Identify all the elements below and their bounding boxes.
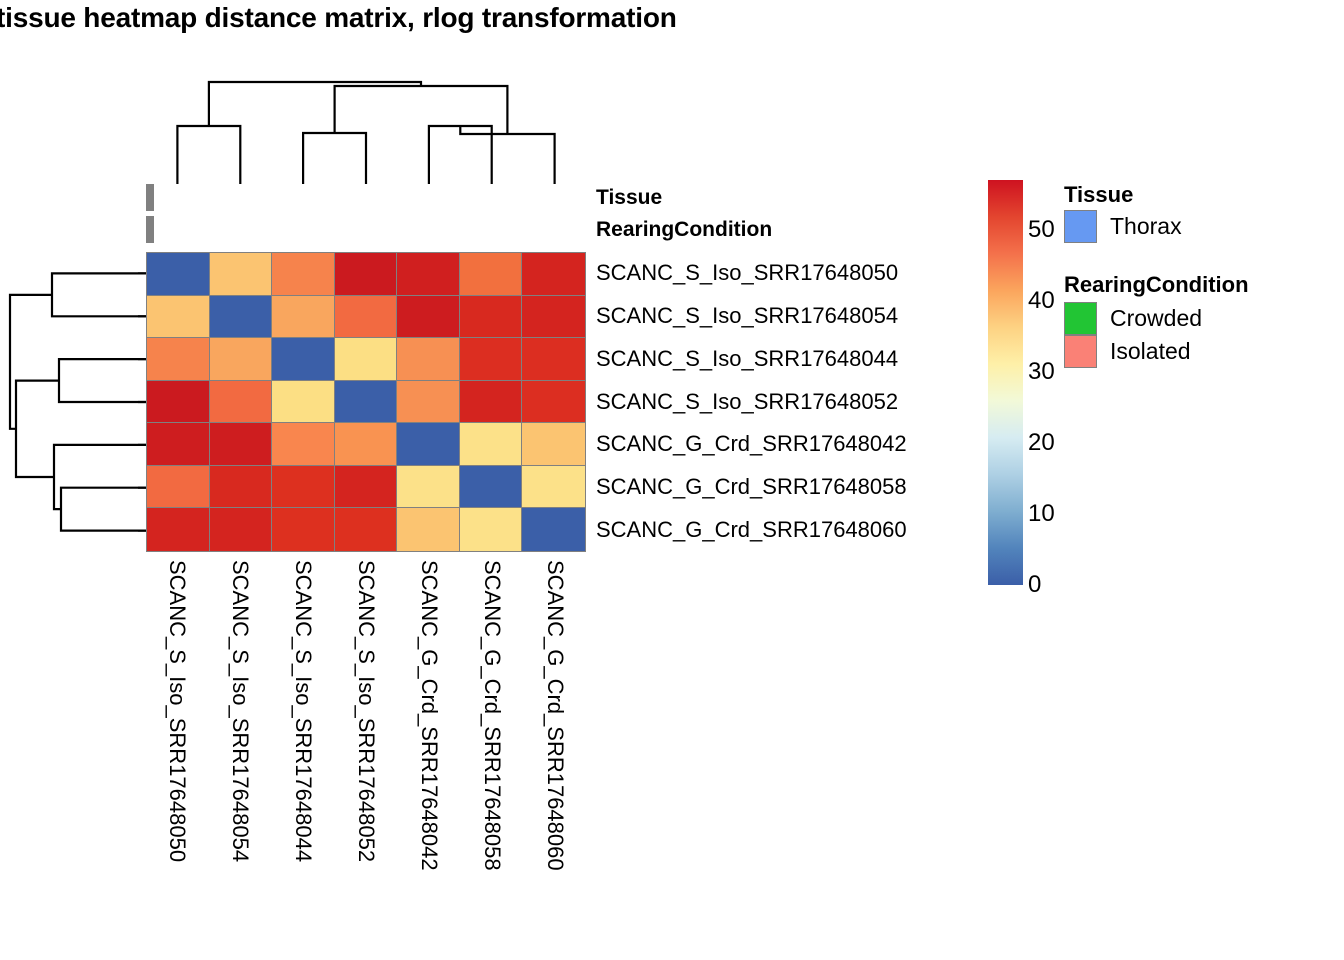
- column-label-slot: SCANC_S_Iso_SRR17648050: [146, 556, 209, 956]
- heatmap-figure: tissue heatmap distance matrix, rlog tra…: [0, 0, 1344, 960]
- heatmap-cell: [272, 296, 335, 339]
- heatmap-cell: [210, 466, 273, 509]
- legend-rearing-swatch: [1064, 335, 1097, 368]
- legend-tissue-item[interactable]: Thorax: [1064, 210, 1182, 243]
- annotation-label-tissue: Tissue: [596, 184, 662, 211]
- heatmap-cell: [147, 381, 210, 424]
- heatmap-cell: [460, 338, 523, 381]
- legend-rearing-label: Isolated: [1110, 338, 1191, 365]
- heatmap-cell: [397, 423, 460, 466]
- legend-title-tissue: Tissue: [1064, 182, 1133, 208]
- column-label: SCANC_S_Iso_SRR17648052: [353, 560, 379, 862]
- legend-rearing-label: Crowded: [1110, 305, 1202, 332]
- row-label: SCANC_S_Iso_SRR17648052: [596, 381, 898, 424]
- heatmap-cell: [147, 466, 210, 509]
- heatmap-cell: [335, 508, 398, 551]
- heatmap-cell: [272, 423, 335, 466]
- column-label-slot: SCANC_S_Iso_SRR17648044: [272, 556, 335, 956]
- column-dendrogram-ticks: [177, 176, 554, 184]
- heatmap-cell: [397, 253, 460, 296]
- column-label-group: SCANC_S_Iso_SRR17648050SCANC_S_Iso_SRR17…: [146, 556, 586, 956]
- row-label: SCANC_S_Iso_SRR17648044: [596, 338, 898, 381]
- heatmap-cell: [210, 338, 273, 381]
- heatmap-cell: [460, 381, 523, 424]
- colorbar-tick-label: 50: [1028, 218, 1055, 242]
- page-title: tissue heatmap distance matrix, rlog tra…: [0, 1, 996, 35]
- row-label-group: SCANC_S_Iso_SRR17648050SCANC_S_Iso_SRR17…: [596, 252, 996, 552]
- heatmap-cell: [397, 466, 460, 509]
- legend-tissue-swatch: [1064, 210, 1097, 243]
- legend-title-rearing: RearingCondition: [1064, 272, 1249, 298]
- heatmap-cell: [522, 338, 585, 381]
- colorbar-tick-label: 30: [1028, 360, 1055, 384]
- heatmap-cell: [522, 508, 585, 551]
- heatmap-cell: [147, 296, 210, 339]
- heatmap-cell: [147, 253, 210, 296]
- column-label-slot: SCANC_G_Crd_SRR17648042: [397, 556, 460, 956]
- column-label: SCANC_S_Iso_SRR17648054: [227, 560, 253, 862]
- heatmap-cell: [335, 338, 398, 381]
- heatmap-cell: [335, 296, 398, 339]
- heatmap-cell: [272, 466, 335, 509]
- heatmap-cell: [272, 381, 335, 424]
- column-dendrogram: [146, 38, 586, 184]
- heatmap-cell: [335, 253, 398, 296]
- heatmap-cell: [335, 381, 398, 424]
- heatmap-cell: [210, 253, 273, 296]
- legend-rearing-item[interactable]: Isolated: [1064, 335, 1191, 368]
- row-label: SCANC_G_Crd_SRR17648060: [596, 509, 907, 552]
- colorbar-tick-label: 10: [1028, 502, 1055, 526]
- heatmap-cell: [147, 508, 210, 551]
- column-label: SCANC_G_Crd_SRR17648042: [416, 560, 442, 871]
- heatmap-cell: [460, 253, 523, 296]
- heatmap-cell: [522, 296, 585, 339]
- heatmap-cell: [397, 338, 460, 381]
- heatmap-cell: [335, 423, 398, 466]
- colorbar-tick-label: 20: [1028, 431, 1055, 455]
- legend-tissue-label: Thorax: [1110, 213, 1182, 240]
- heatmap-cell: [397, 508, 460, 551]
- annotation-bar-rearing: [146, 216, 154, 243]
- column-label: SCANC_G_Crd_SRR17648060: [542, 560, 568, 871]
- heatmap-cell: [272, 508, 335, 551]
- heatmap-cell: [397, 296, 460, 339]
- annotation-rearing-cell: [152, 217, 153, 242]
- heatmap-cell: [522, 253, 585, 296]
- heatmap-cell: [335, 466, 398, 509]
- heatmap-cell: [147, 338, 210, 381]
- row-label: SCANC_G_Crd_SRR17648042: [596, 423, 907, 466]
- heatmap-matrix: [146, 252, 586, 552]
- colorbar: [988, 180, 1023, 585]
- row-label: SCANC_G_Crd_SRR17648058: [596, 466, 907, 509]
- colorbar-tick-label: 0: [1028, 573, 1041, 597]
- heatmap-cell: [147, 423, 210, 466]
- heatmap-cell: [210, 381, 273, 424]
- column-label: SCANC_S_Iso_SRR17648044: [290, 560, 316, 862]
- legend-rearing-swatch: [1064, 302, 1097, 335]
- column-label-slot: SCANC_G_Crd_SRR17648058: [460, 556, 523, 956]
- heatmap-cell: [397, 381, 460, 424]
- row-label: SCANC_S_Iso_SRR17648050: [596, 252, 898, 295]
- column-label: SCANC_G_Crd_SRR17648058: [479, 560, 505, 871]
- heatmap-cell: [272, 253, 335, 296]
- column-label: SCANC_S_Iso_SRR17648050: [164, 560, 190, 862]
- annotation-tissue-cell: [152, 185, 153, 210]
- colorbar-gradient: [988, 180, 1023, 585]
- column-label-slot: SCANC_S_Iso_SRR17648054: [209, 556, 272, 956]
- heatmap-cell: [272, 338, 335, 381]
- heatmap-cell: [460, 466, 523, 509]
- heatmap-cell: [460, 423, 523, 466]
- annotation-bar-tissue: [146, 184, 154, 211]
- heatmap-cell: [460, 296, 523, 339]
- row-dendrogram: [6, 252, 146, 552]
- heatmap-cell: [210, 296, 273, 339]
- legend-rearing-item[interactable]: Crowded: [1064, 302, 1202, 335]
- row-label: SCANC_S_Iso_SRR17648054: [596, 295, 898, 338]
- annotation-label-rearing: RearingCondition: [596, 216, 772, 243]
- column-label-slot: SCANC_G_Crd_SRR17648060: [523, 556, 586, 956]
- colorbar-tick-label: 40: [1028, 289, 1055, 313]
- heatmap-cell: [460, 508, 523, 551]
- column-label-slot: SCANC_S_Iso_SRR17648052: [335, 556, 398, 956]
- heatmap-cell: [210, 423, 273, 466]
- heatmap-cell: [210, 508, 273, 551]
- heatmap-cell: [522, 466, 585, 509]
- heatmap-cell: [522, 423, 585, 466]
- heatmap-cell: [522, 381, 585, 424]
